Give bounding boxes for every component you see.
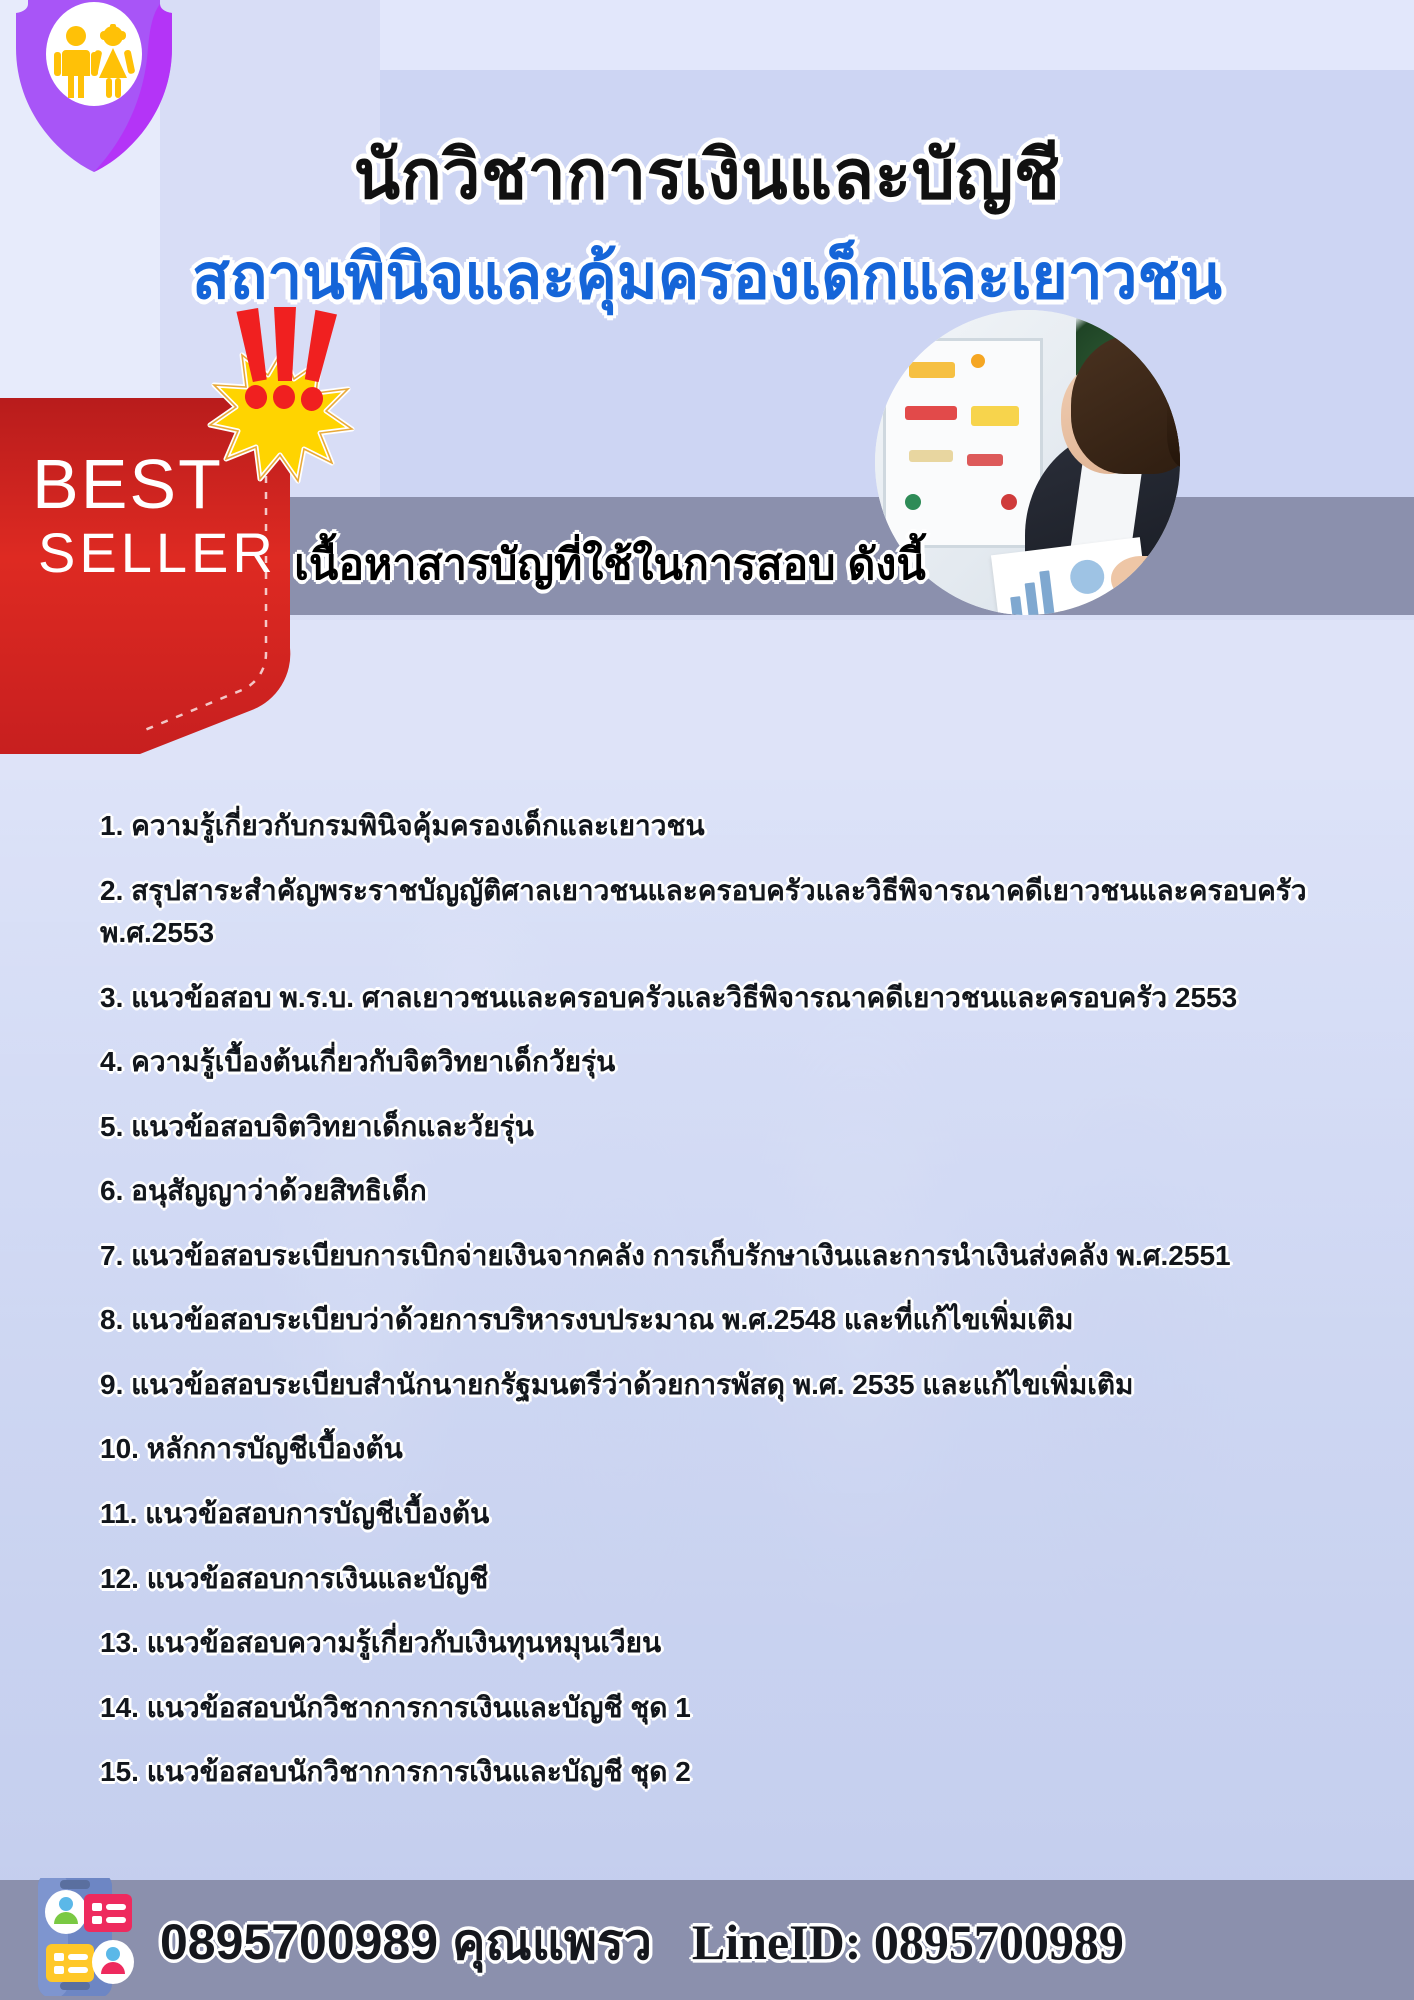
list-item: 8. แนวข้อสอบระเบียบว่าด้วยการบริหารงบประ… bbox=[100, 1299, 1330, 1342]
list-item: 14. แนวข้อสอบนักวิชาการการเงินและบัญชี ช… bbox=[100, 1687, 1330, 1730]
list-item: 10. หลักการบัญชีเบื้องต้น bbox=[100, 1428, 1330, 1471]
background-block-top bbox=[380, 0, 1414, 70]
footer-bar: 0895700989 คุณแพรวLineID: 0895700989 bbox=[0, 1880, 1414, 2000]
list-item: 6. อนุสัญญาว่าด้วยสิทธิเด็ก bbox=[100, 1170, 1330, 1213]
list-item: 1. ความรู้เกี่ยวกับกรมพินิจคุ้มครองเด็กแ… bbox=[100, 805, 1330, 848]
list-item: 7. แนวข้อสอบระเบียบการเบิกจ่ายเงินจากคลั… bbox=[100, 1235, 1330, 1278]
list-item: 9. แนวข้อสอบระเบียบสำนักนายกรัฐมนตรีว่าด… bbox=[100, 1364, 1330, 1407]
list-item: 13. แนวข้อสอบความรู้เกี่ยวกับเงินทุนหมุน… bbox=[100, 1622, 1330, 1665]
page-subtitle: สถานพินิจและคุ้มครองเด็กและเยาวชน bbox=[0, 228, 1414, 326]
starburst-icon bbox=[212, 345, 352, 485]
list-item: 2. สรุปสาระสำคัญพระราชบัญญัติศาลเยาวชนแล… bbox=[100, 870, 1330, 955]
poster-root: นักวิชาการเงินและบัญชี สถานพินิจและคุ้มค… bbox=[0, 0, 1414, 2000]
chat-contact-icon bbox=[20, 1878, 150, 1996]
list-item: 4. ความรู้เบื้องต้นเกี่ยวกับจิตวิทยาเด็ก… bbox=[100, 1041, 1330, 1084]
list-item: 3. แนวข้อสอบ พ.ร.บ. ศาลเยาวชนและครอบครัว… bbox=[100, 977, 1330, 1020]
badge-seller-label: SELLER bbox=[38, 520, 277, 585]
list-item: 11. แนวข้อสอบการบัญชีเบื้องต้น bbox=[100, 1493, 1330, 1536]
page-title: นักวิชาการเงินและบัญชี bbox=[0, 120, 1414, 228]
footer-line-id: LineID: 0895700989 bbox=[692, 1914, 1124, 1970]
footer-phone-number: 0895700989 คุณแพรว bbox=[160, 1914, 652, 1970]
exam-topics-list: 1. ความรู้เกี่ยวกับกรมพินิจคุ้มครองเด็กแ… bbox=[100, 805, 1330, 1816]
list-item: 12. แนวข้อสอบการเงินและบัญชี bbox=[100, 1558, 1330, 1601]
list-item: 15. แนวข้อสอบนักวิชาการการเงินและบัญชี ช… bbox=[100, 1751, 1330, 1794]
badge-best-label: BEST bbox=[32, 444, 223, 524]
list-item: 5. แนวข้อสอบจิตวิทยาเด็กและวัยรุ่น bbox=[100, 1106, 1330, 1149]
footer-contact: 0895700989 คุณแพรวLineID: 0895700989 bbox=[160, 1903, 1400, 1982]
banner-text: เนื้อหาสารบัญที่ใช้ในการสอบ ดังนี้ bbox=[250, 530, 970, 598]
